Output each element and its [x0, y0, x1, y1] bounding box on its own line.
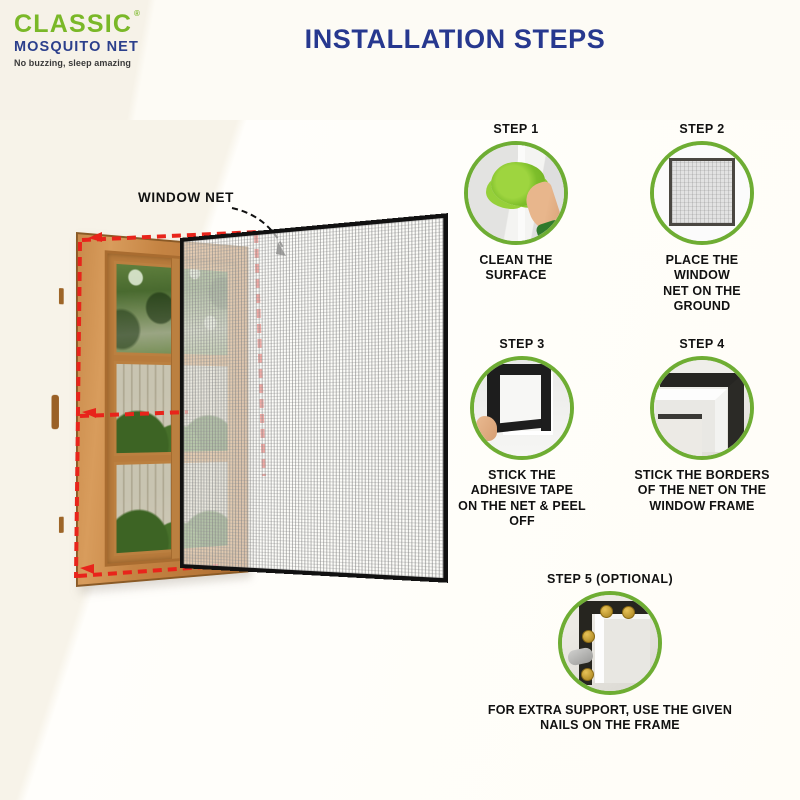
step-image-clean-the-surface: [464, 141, 568, 245]
step-card-5: STEP 5 (OPTIONAL) FOR EXTRA SUPPORT, USE…: [470, 572, 750, 734]
net-border-on-frame-icon: [654, 360, 750, 456]
brand-tagline: No buzzing, sleep amazing: [14, 58, 164, 68]
mesh-square-icon: [654, 145, 750, 241]
mosquito-net-panel: [180, 213, 448, 583]
window-handle-icon: [51, 395, 59, 429]
window-hinge-top-icon: [59, 288, 64, 304]
frame-inner-edge: [658, 414, 702, 459]
nail-icon: [600, 605, 613, 618]
step-title: STEP 2: [636, 122, 768, 136]
step-image-place-net-on-ground: [650, 141, 754, 245]
hand-peeling: [476, 416, 497, 441]
window-hinge-bottom-icon: [59, 517, 64, 533]
nail-icon: [622, 606, 635, 619]
step-caption: STICK THE ADHESIVE TAPE ON THE NET & PEE…: [452, 468, 592, 529]
step-image-nails-on-frame: [558, 591, 662, 695]
hand-with-cloth-cleaning-icon: [468, 145, 564, 241]
mosquito-net-mesh: [180, 213, 448, 583]
step-caption: CLEAN THE SURFACE: [452, 253, 580, 284]
frame-with-nails-icon: [562, 595, 658, 691]
step-caption: STICK THE BORDERS OF THE NET ON THE WIND…: [630, 468, 774, 514]
step-title: STEP 3: [452, 337, 592, 351]
window-net-illustration: WINDOW NET: [58, 190, 438, 610]
page-title: INSTALLATION STEPS: [0, 24, 800, 55]
nail-icon: [582, 630, 595, 643]
step-caption: FOR EXTRA SUPPORT, USE THE GIVEN NAILS O…: [470, 703, 750, 734]
step-image-adhesive-tape: [470, 356, 574, 460]
step-card-1: STEP 1 CLEAN THE SURFACE: [452, 122, 580, 284]
step-title: STEP 5 (OPTIONAL): [470, 572, 750, 586]
peeling-adhesive-tape-icon: [474, 360, 570, 456]
step-title: STEP 4: [630, 337, 774, 351]
step-image-stick-borders: [650, 356, 754, 460]
step-caption: PLACE THE WINDOW NET ON THE GROUND: [636, 253, 768, 314]
net-square: [669, 158, 734, 225]
step-card-2: STEP 2 PLACE THE WINDOW NET ON THE GROUN…: [636, 122, 768, 314]
page-root: CLASSIC ® MOSQUITO NET No buzzing, sleep…: [0, 0, 800, 800]
step-card-4: STEP 4 STICK THE BORDERS OF THE NET ON T…: [630, 337, 774, 514]
registered-trademark-icon: ®: [134, 10, 141, 18]
step-title: STEP 1: [452, 122, 580, 136]
step-card-3: STEP 3 STICK THE ADHESIVE TAPE ON THE NE…: [452, 337, 592, 529]
window-net-callout-label: WINDOW NET: [138, 190, 234, 205]
